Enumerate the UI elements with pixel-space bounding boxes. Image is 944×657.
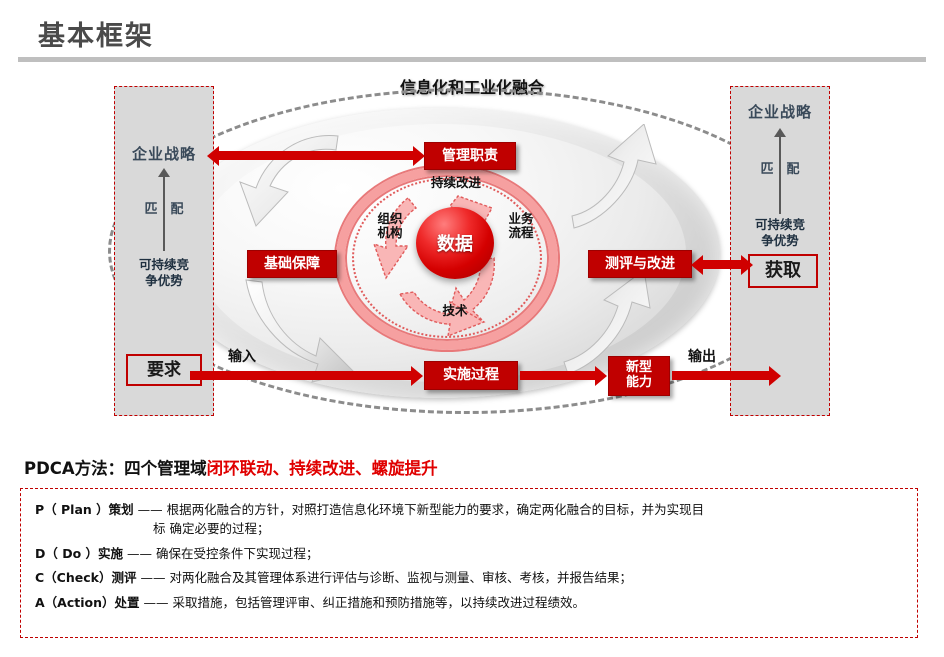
cycle-label-left-line1: 组织 bbox=[367, 212, 413, 226]
box-new-capability[interactable]: 新型 能力 bbox=[608, 356, 670, 396]
arrow-capability-to-output bbox=[672, 371, 770, 380]
arrow-strategy-to-management bbox=[218, 151, 414, 160]
cycle-label-left: 组织 机构 bbox=[367, 212, 413, 240]
pdca-heading: PDCA方法：四个管理域闭环联动、持续改进、螺旋提升 bbox=[24, 455, 438, 479]
right-strategy-label: 企业战略 bbox=[730, 104, 830, 122]
pdca-item-do: D（ Do ）实施——确保在受控条件下实现过程； bbox=[35, 545, 903, 564]
arrow-requirement-to-implementation bbox=[190, 371, 412, 380]
box-implementation-process[interactable]: 实施过程 bbox=[424, 361, 518, 390]
requirement-box: 要求 bbox=[126, 354, 202, 386]
right-advantage-line2: 争优势 bbox=[730, 234, 830, 249]
pdca-item-check: C（Check）测评——对两化融合及其管理体系进行评估与诊断、监视与测量、审核、… bbox=[35, 569, 903, 588]
box-new-capability-line1: 新型 bbox=[626, 361, 652, 376]
cycle-label-left-line2: 机构 bbox=[367, 226, 413, 240]
pdca-item-plan-dash: —— bbox=[134, 501, 167, 520]
box-management-responsibility[interactable]: 管理职责 bbox=[424, 142, 516, 170]
left-match-label: 匹 配 bbox=[114, 202, 214, 217]
pdca-item-plan: P（ Plan ）策划——根据两化融合的方针，对照打造信息化环境下新型能力的要求… bbox=[35, 501, 903, 539]
page-title: 基本框架 bbox=[38, 14, 154, 53]
cycle-label-right: 业务 流程 bbox=[498, 212, 544, 240]
right-match-label: 匹 配 bbox=[730, 162, 830, 177]
pdca-item-do-body: 确保在受控条件下实现过程； bbox=[156, 546, 319, 561]
pdca-item-action-dash: —— bbox=[140, 594, 173, 613]
pdca-item-do-key: D（ Do ）实施 bbox=[35, 545, 123, 564]
pdca-item-action-body: 采取措施，包括管理评审、纠正措施和预防措施等，以持续改进过程绩效。 bbox=[173, 595, 586, 610]
cycle-label-right-line2: 流程 bbox=[498, 226, 544, 240]
pdca-item-action: A（Action）处置——采取措施，包括管理评审、纠正措施和预防措施等，以持续改… bbox=[35, 594, 903, 613]
box-new-capability-line2: 能力 bbox=[626, 376, 652, 391]
requirement-box-label: 要求 bbox=[147, 360, 181, 380]
box-assessment-improvement-label: 测评与改进 bbox=[605, 256, 675, 272]
pdca-item-plan-body: 根据两化融合的方针，对照打造信息化环境下新型能力的要求，确定两化融合的目标，并为… bbox=[167, 502, 705, 517]
cycle-label-top: 持续改进 bbox=[396, 176, 516, 190]
arrow-implementation-to-capability bbox=[520, 371, 596, 380]
pdca-item-plan-body-cont: 标 确定必要的过程； bbox=[35, 520, 903, 539]
pdca-heading-red: 闭环联动、持续改进、螺旋提升 bbox=[207, 459, 438, 478]
pdca-heading-black: PDCA方法：四个管理域 bbox=[24, 459, 207, 478]
arrow-assessment-to-acquire bbox=[702, 260, 742, 269]
title-divider bbox=[18, 57, 926, 62]
right-advantage-line1: 可持续竞 bbox=[730, 218, 830, 233]
box-management-responsibility-label: 管理职责 bbox=[442, 148, 498, 164]
swoosh-arrow-top-right bbox=[560, 124, 680, 239]
box-basic-assurance[interactable]: 基础保障 bbox=[247, 250, 337, 278]
box-basic-assurance-label: 基础保障 bbox=[264, 256, 320, 272]
pdca-item-check-dash: —— bbox=[136, 569, 169, 588]
pdca-item-plan-key: P（ Plan ）策划 bbox=[35, 501, 134, 520]
data-core-sphere: 数据 bbox=[416, 207, 494, 279]
box-implementation-process-label: 实施过程 bbox=[443, 367, 499, 383]
left-advantage-line1: 可持续竞 bbox=[114, 258, 214, 273]
acquire-box-label: 获取 bbox=[765, 260, 801, 281]
left-advantage-line2: 争优势 bbox=[114, 274, 214, 289]
acquire-box: 获取 bbox=[748, 254, 818, 288]
data-core-label: 数据 bbox=[437, 230, 473, 256]
cycle-label-right-line1: 业务 bbox=[498, 212, 544, 226]
input-label: 输入 bbox=[228, 346, 256, 366]
swoosh-arrow-top-left bbox=[230, 126, 350, 236]
pdca-item-do-dash: —— bbox=[123, 545, 156, 564]
box-assessment-improvement[interactable]: 测评与改进 bbox=[588, 250, 692, 278]
pdca-description-box: P（ Plan ）策划——根据两化融合的方针，对照打造信息化环境下新型能力的要求… bbox=[20, 488, 918, 638]
output-label: 输出 bbox=[688, 346, 716, 366]
pdca-item-action-key: A（Action）处置 bbox=[35, 594, 140, 613]
left-strategy-label: 企业战略 bbox=[114, 146, 214, 164]
pdca-item-check-body: 对两化融合及其管理体系进行评估与诊断、监视与测量、审核、考核，并报告结果； bbox=[169, 570, 632, 585]
cycle-label-bottom: 技术 bbox=[425, 304, 485, 318]
pdca-item-check-key: C（Check）测评 bbox=[35, 569, 136, 588]
framework-diagram: 信息化和工业化融合 bbox=[0, 66, 944, 446]
